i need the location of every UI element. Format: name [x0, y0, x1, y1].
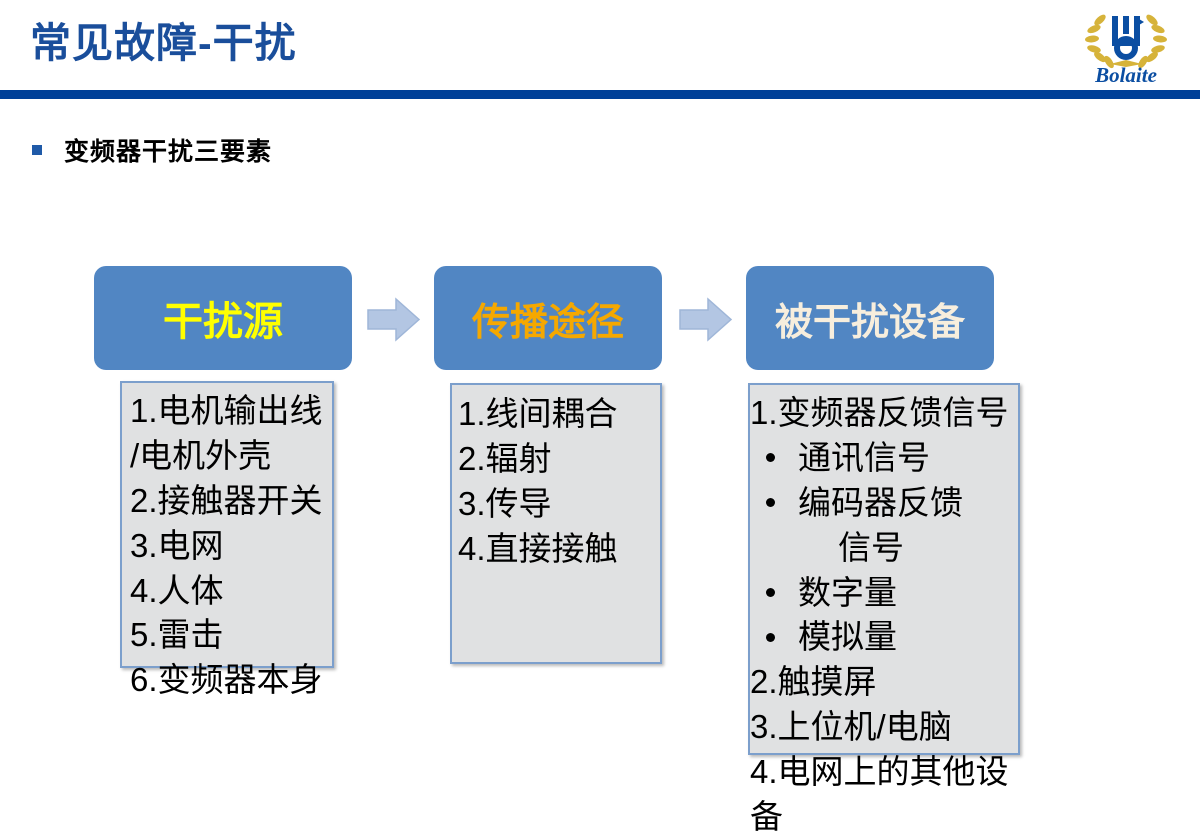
list-sub-item: 通讯信号	[750, 436, 1009, 481]
list-sub-item: 模拟量	[750, 615, 1009, 660]
list-sub-item-label: 通讯信号	[798, 439, 930, 476]
list-sub-item-label: 模拟量	[798, 618, 897, 655]
flow-list-interference-source: 1.电机输出线 /电机外壳 2.接触器开关 3.电网 4.人体 5.雷击 6.变…	[130, 389, 323, 703]
square-bullet-icon	[32, 145, 42, 155]
round-bullet-icon	[766, 633, 775, 642]
flow-list-affected-equipment: 1.变频器反馈信号 通讯信号 编码器反馈 信号 数字量 模拟量 2.触摸屏 3.…	[750, 391, 1009, 840]
bullet-label: 变频器干扰三要素	[64, 132, 272, 168]
list-item: 4.直接接触	[458, 527, 618, 572]
list-item: 3.上位机/电脑	[750, 705, 1009, 750]
list-item: 1.线间耦合	[458, 392, 618, 437]
list-sub-item: 编码器反馈	[750, 481, 1009, 526]
flow-header-interference-source[interactable]: 干扰源	[94, 266, 352, 370]
list-sub-item-label: 编码器反馈	[798, 484, 963, 521]
flow-arrow-right-icon	[678, 297, 733, 342]
list-item: 3.电网	[130, 524, 323, 569]
flow-header-affected-equipment[interactable]: 被干扰设备	[746, 266, 994, 370]
bolaite-logo: Bolaite	[1070, 4, 1182, 88]
list-item: /电机外壳	[130, 434, 323, 479]
round-bullet-icon	[766, 588, 775, 597]
list-item: 2.触摸屏	[750, 660, 1009, 705]
title-divider	[0, 90, 1200, 99]
list-item: 4.电网上的其他设	[750, 750, 1009, 795]
bullet-row: 变频器干扰三要素	[32, 132, 272, 168]
list-item: 2.辐射	[458, 437, 618, 482]
flow-list-propagation-path: 1.线间耦合 2.辐射 3.传导 4.直接接触	[458, 392, 618, 572]
list-item: 1.电机输出线	[130, 389, 323, 434]
logo-wordmark: Bolaite	[1094, 63, 1157, 87]
list-item: 4.人体	[130, 569, 323, 614]
flow-header-propagation-path[interactable]: 传播途径	[434, 266, 662, 370]
list-sub-item-continuation: 信号	[750, 526, 1009, 571]
list-item: 1.变频器反馈信号	[750, 391, 1009, 436]
list-sub-item-label: 数字量	[798, 574, 897, 611]
round-bullet-icon	[766, 453, 775, 462]
list-item: 5.雷击	[130, 613, 323, 658]
flow-arrow-right-icon	[366, 297, 421, 342]
list-item: 2.接触器开关	[130, 479, 323, 524]
page-title: 常见故障-干扰	[30, 20, 297, 67]
list-sub-item: 数字量	[750, 571, 1009, 616]
round-bullet-icon	[766, 498, 775, 507]
list-item: 6.变频器本身	[130, 658, 323, 703]
list-item: 3.传导	[458, 482, 618, 527]
list-item: 备	[750, 795, 1009, 840]
